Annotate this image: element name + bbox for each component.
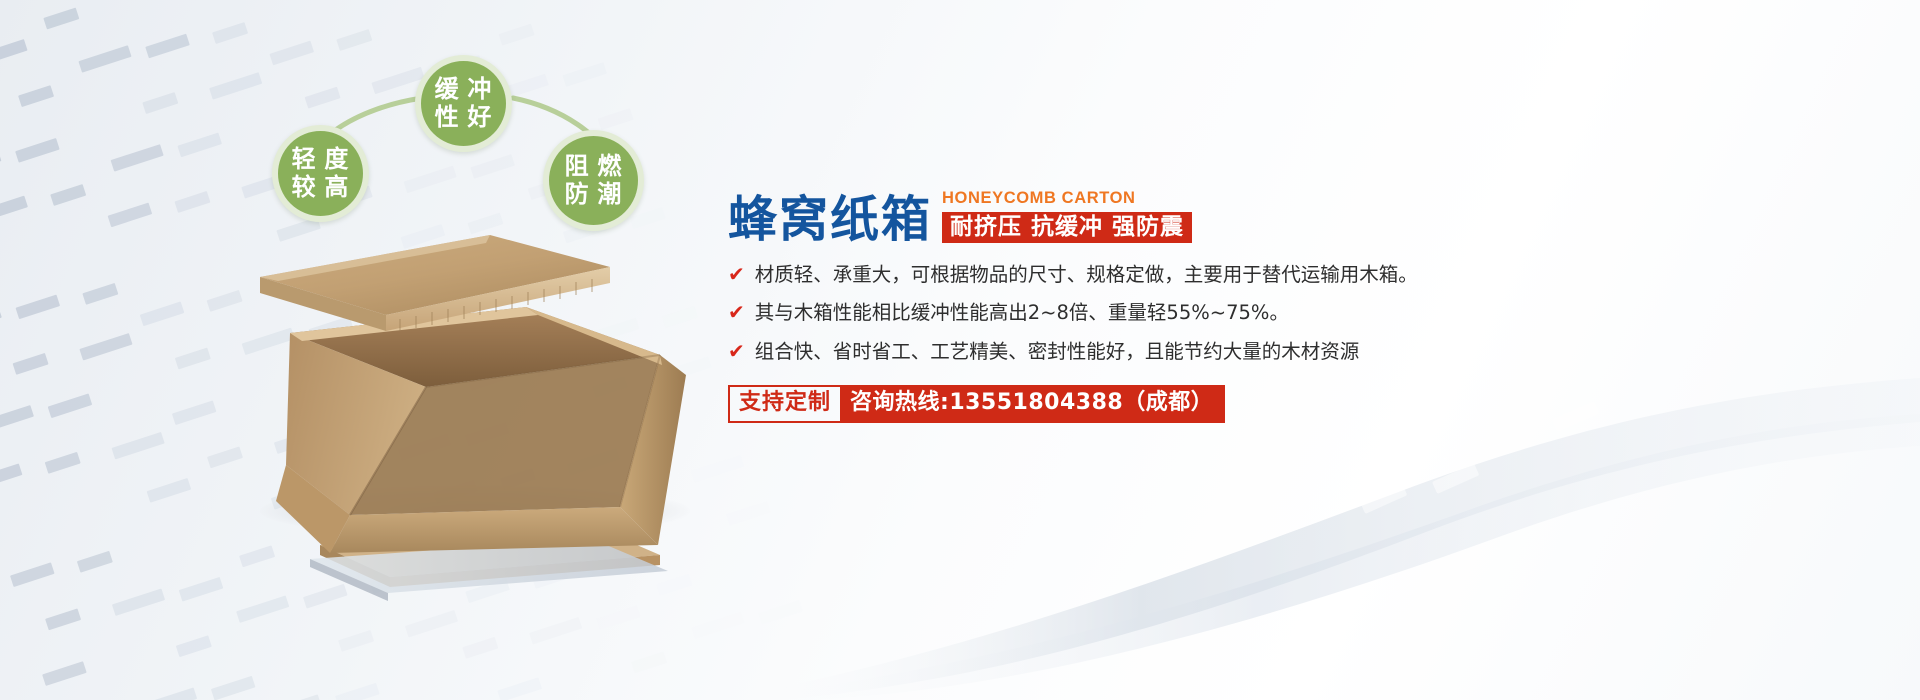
feature-strip: 耐挤压 抗缓冲 强防震 bbox=[942, 212, 1192, 243]
list-item: ✔ 其与木箱性能相比缓冲性能高出2~8倍、重量轻55%~75%。 bbox=[728, 301, 1508, 325]
list-item-text: 材质轻、承重大，可根据物品的尺寸、规格定做，主要用于替代运输用木箱。 bbox=[755, 263, 1418, 287]
page-title: 蜂窝纸箱 bbox=[728, 195, 932, 244]
feature-bubble-buffer-line1: 缓 冲 bbox=[435, 76, 493, 103]
feature-bubble-flame-retardant-line1: 阻 燃 bbox=[565, 153, 623, 180]
feature-bubble-light-weight-line2: 较 高 bbox=[292, 174, 350, 201]
list-item-text: 组合快、省时省工、工艺精美、密封性能好，且能节约大量的木材资源 bbox=[755, 340, 1360, 364]
feature-bubble-light-weight-line1: 轻 度 bbox=[292, 146, 350, 173]
check-icon: ✔ bbox=[728, 300, 745, 324]
title-row: 蜂窝纸箱 HONEYCOMB CARTON 耐挤压 抗缓冲 强防震 bbox=[728, 186, 1508, 244]
english-subtitle: HONEYCOMB CARTON bbox=[942, 190, 1192, 207]
list-item: ✔ 材质轻、承重大，可根据物品的尺寸、规格定做，主要用于替代运输用木箱。 bbox=[728, 263, 1508, 287]
copy-block: 蜂窝纸箱 HONEYCOMB CARTON 耐挤压 抗缓冲 强防震 ✔ 材质轻、… bbox=[728, 186, 1508, 423]
check-icon: ✔ bbox=[728, 339, 745, 363]
check-icon: ✔ bbox=[728, 262, 745, 286]
promo-banner: 缓 冲 性 好 轻 度 较 高 阻 燃 防 潮 bbox=[0, 0, 1920, 700]
list-item-text: 其与木箱性能相比缓冲性能高出2~8倍、重量轻55%~75%。 bbox=[755, 301, 1289, 325]
product-graphic-group: 缓 冲 性 好 轻 度 较 高 阻 燃 防 潮 bbox=[150, 30, 770, 630]
title-right-stack: HONEYCOMB CARTON 耐挤压 抗缓冲 强防震 bbox=[942, 190, 1192, 244]
hotline-number[interactable]: 咨询热线:13551804388（成都） bbox=[840, 387, 1223, 420]
honeycomb-carton-image bbox=[190, 215, 750, 605]
custom-order-label: 支持定制 bbox=[730, 387, 840, 420]
hotline-bar[interactable]: 支持定制 咨询热线:13551804388（成都） bbox=[728, 385, 1225, 422]
feature-bubble-light-weight: 轻 度 较 高 bbox=[272, 125, 369, 222]
feature-bubble-flame-retardant-line2: 防 潮 bbox=[565, 181, 623, 208]
list-item: ✔ 组合快、省时省工、工艺精美、密封性能好，且能节约大量的木材资源 bbox=[728, 340, 1508, 364]
feature-bullet-list: ✔ 材质轻、承重大，可根据物品的尺寸、规格定做，主要用于替代运输用木箱。 ✔ 其… bbox=[728, 263, 1508, 364]
feature-bubble-buffer: 缓 冲 性 好 bbox=[415, 55, 512, 152]
feature-bubble-buffer-line2: 性 好 bbox=[435, 104, 493, 131]
